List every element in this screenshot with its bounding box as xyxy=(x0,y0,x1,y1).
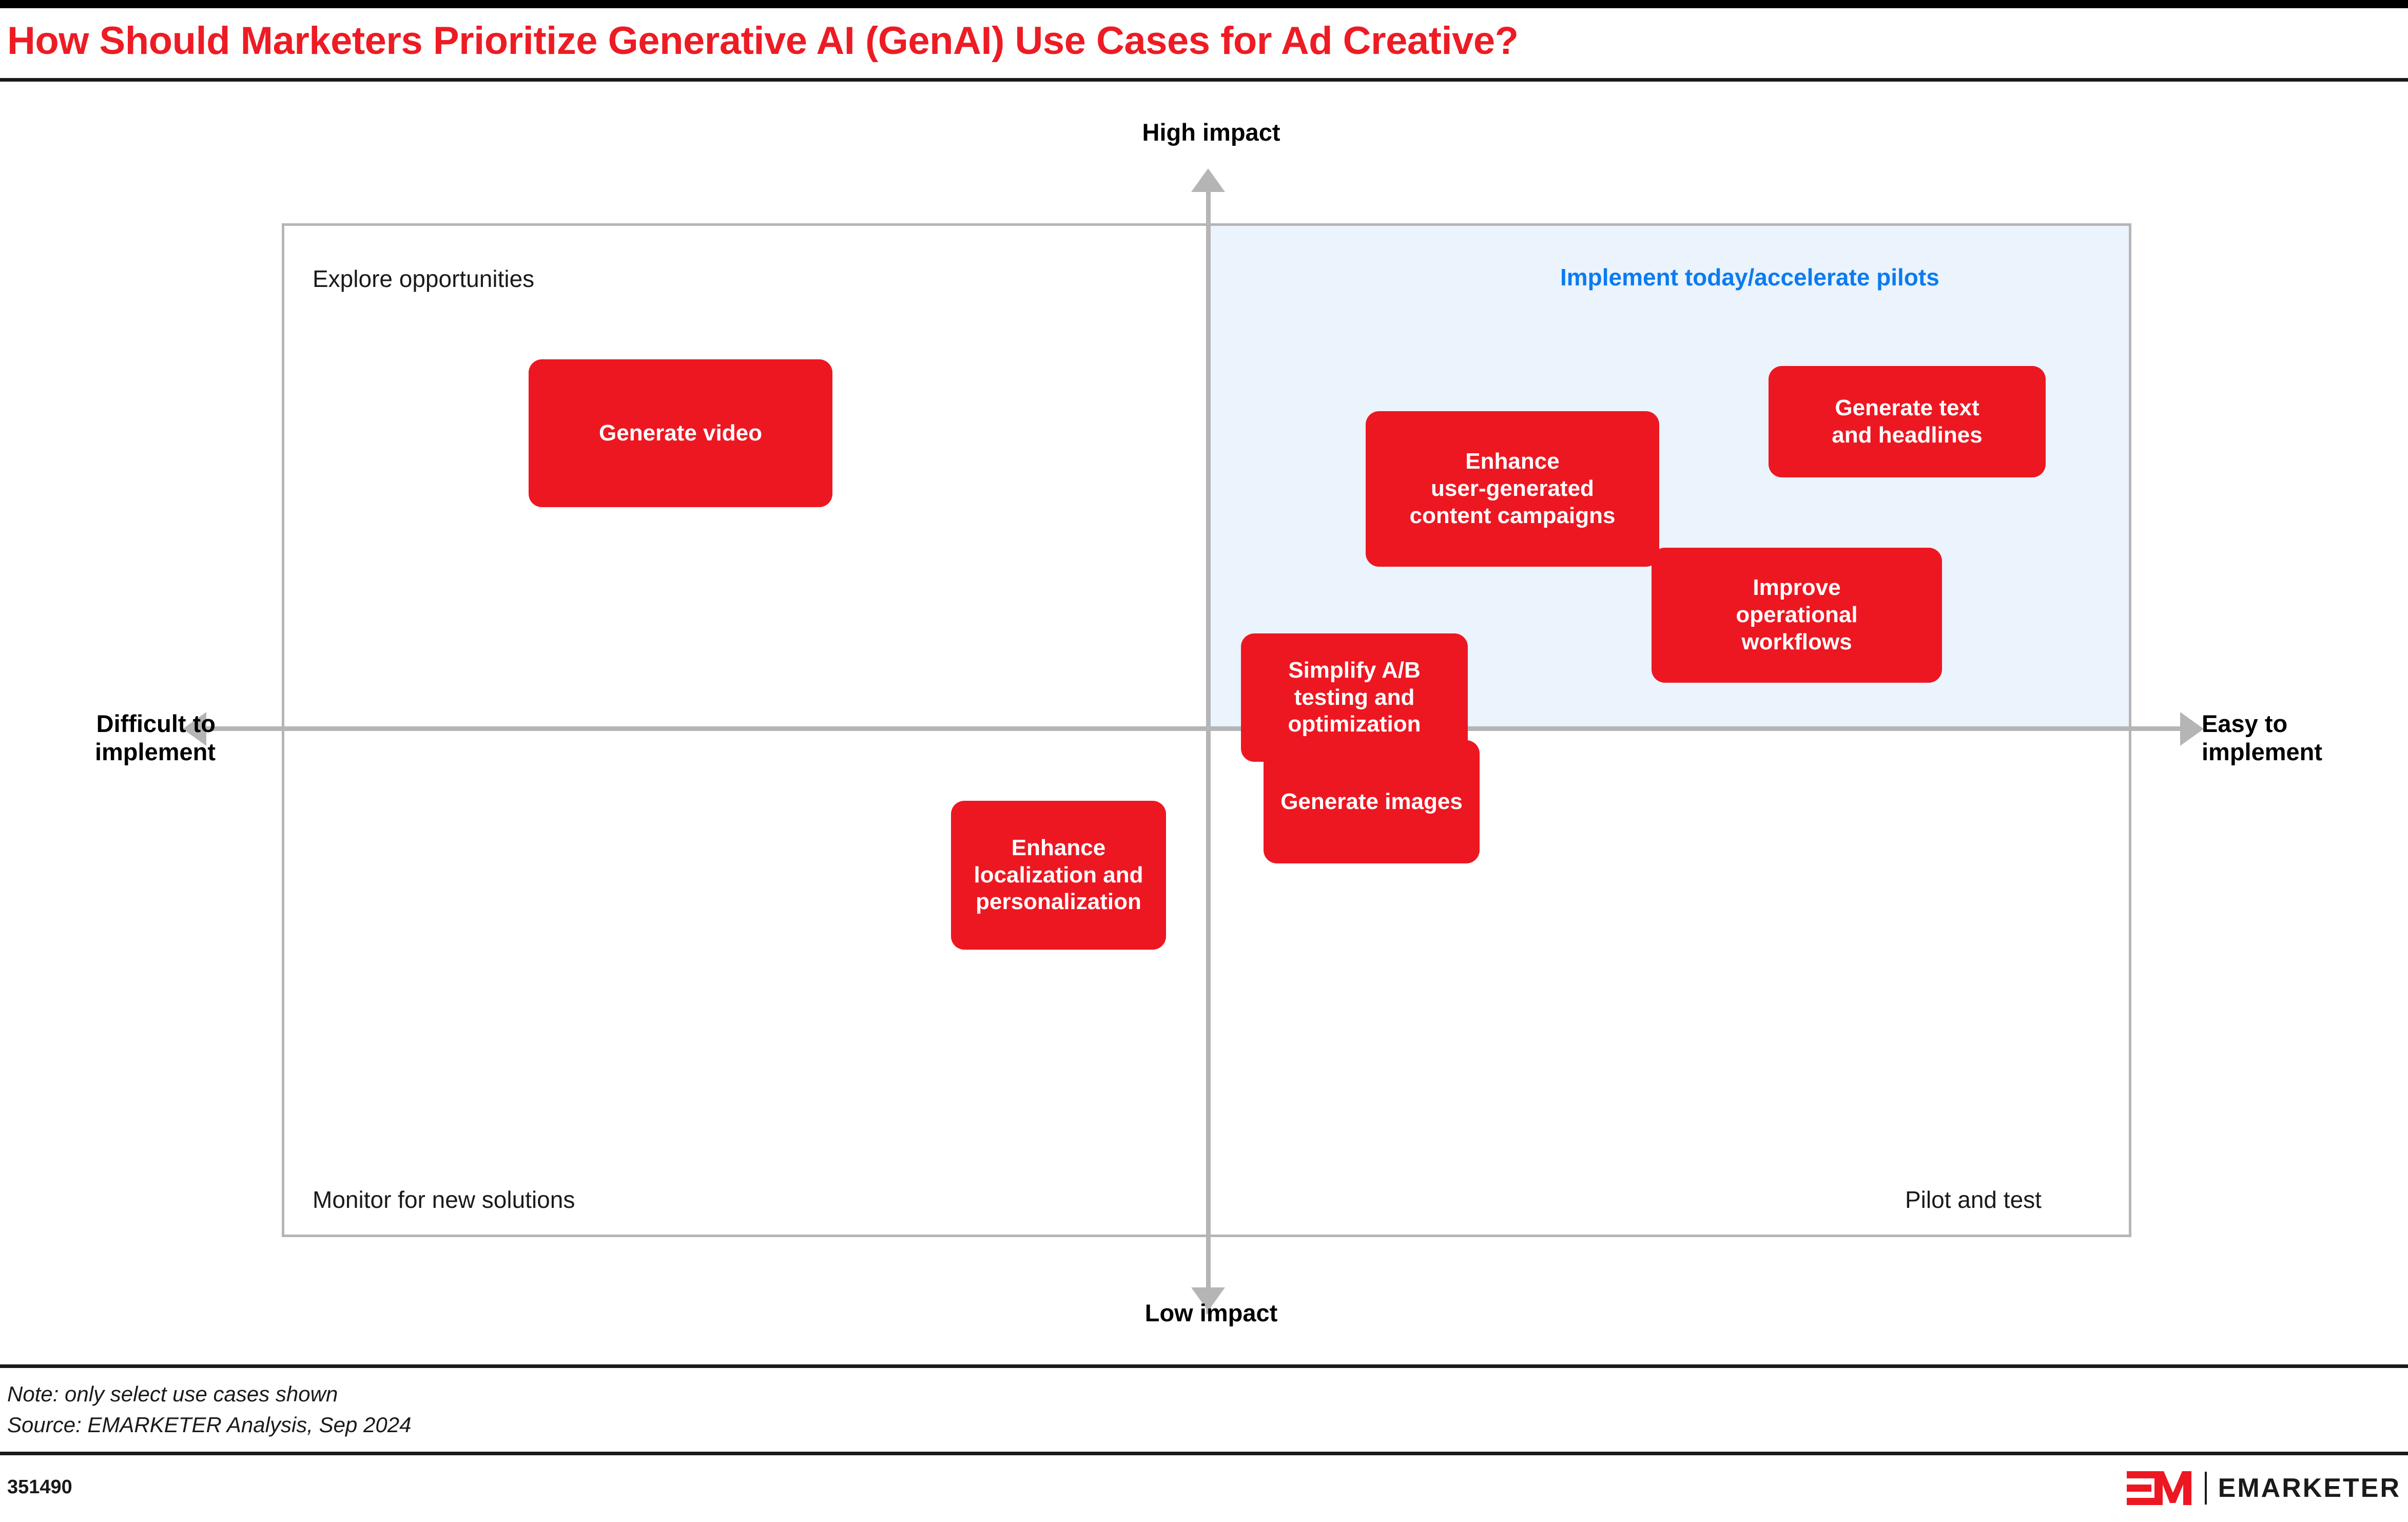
logo-divider xyxy=(2205,1472,2207,1505)
quadrant-label-monitor-for-new-solutions: Monitor for new solutions xyxy=(313,1187,575,1213)
footer-source: Source: EMARKETER Analysis, Sep 2024 xyxy=(7,1413,411,1437)
quadrant-label-implement-today: Implement today/accelerate pilots xyxy=(1560,264,1939,291)
horizontal-axis-line xyxy=(205,726,2181,731)
emarketer-logo: EMARKETER xyxy=(2127,1469,2401,1507)
footer-top-rule xyxy=(0,1364,2408,1368)
use-case-chip[interactable]: Improve operational workflows xyxy=(1652,548,1942,683)
axis-label-low-impact: Low impact xyxy=(1057,1299,1365,1327)
use-case-chip[interactable]: Enhance user-generated content campaigns xyxy=(1366,411,1659,567)
em-mark-icon xyxy=(2127,1469,2193,1507)
arrow-up-icon xyxy=(1191,168,1225,192)
use-case-chip[interactable]: Generate text and headlines xyxy=(1769,366,2046,477)
footer-note: Note: only select use cases shown xyxy=(7,1382,338,1407)
use-case-chip[interactable]: Generate images xyxy=(1264,740,1480,863)
title-divider xyxy=(0,78,2408,82)
chart-page: How Should Marketers Prioritize Generati… xyxy=(0,0,2408,1522)
footer-bottom-rule xyxy=(0,1452,2408,1455)
use-case-chip[interactable]: Enhance localization and personalization xyxy=(951,801,1166,950)
arrow-right-icon xyxy=(2180,712,2204,746)
chart-id: 351490 xyxy=(7,1476,72,1498)
logo-wordmark: EMARKETER xyxy=(2218,1473,2401,1504)
axis-label-high-impact: High impact xyxy=(1057,118,1365,146)
quadrant-label-pilot-and-test: Pilot and test xyxy=(1905,1187,2042,1213)
axis-label-difficult-to-implement: Difficult to implement xyxy=(15,709,216,766)
vertical-axis-line xyxy=(1206,185,1211,1314)
axis-label-easy-to-implement: Easy to implement xyxy=(2202,709,2402,766)
quadrant-chart: High impact Low impact Difficult to impl… xyxy=(0,82,2408,1355)
top-rule xyxy=(0,0,2408,8)
page-title: How Should Marketers Prioritize Generati… xyxy=(7,22,2265,61)
use-case-chip[interactable]: Generate video xyxy=(529,359,832,507)
quadrant-label-explore-opportunities: Explore opportunities xyxy=(313,266,534,292)
